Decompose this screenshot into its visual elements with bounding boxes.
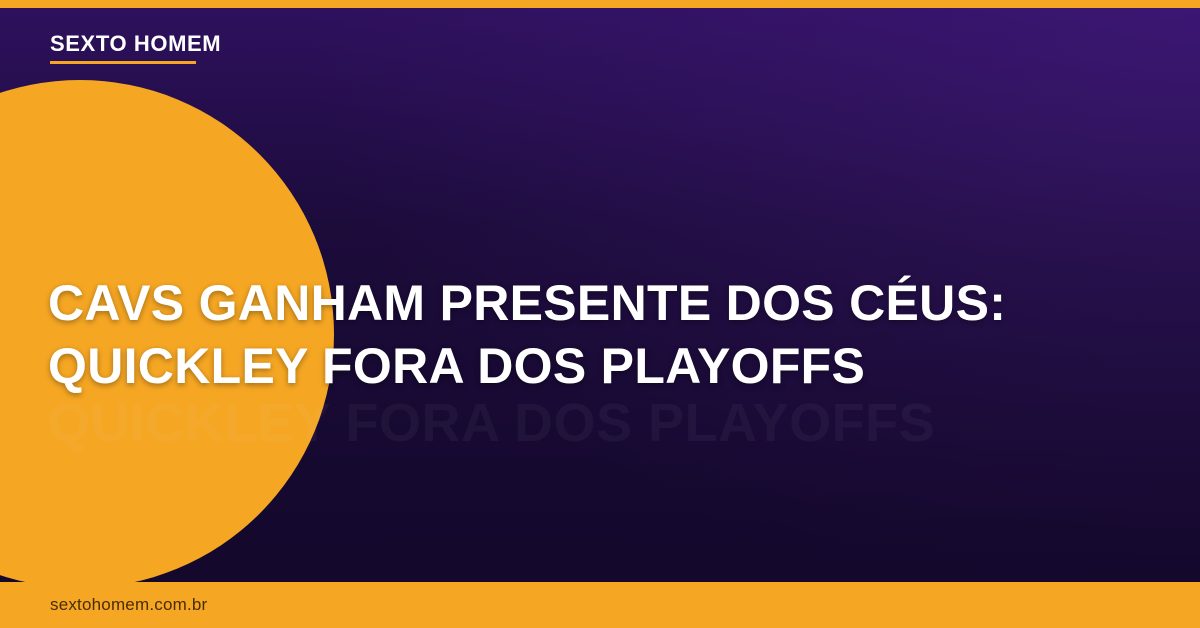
headline-line-2: QUICKLEY FORA DOS PLAYOFFS: [48, 335, 1138, 398]
ghost-headline-text: QUICKLEY FORA DOS PLAYOFFS: [48, 392, 1168, 456]
headline-line-1: CAVS GANHAM PRESENTE DOS CÉUS:: [48, 272, 1138, 335]
brand-logo[interactable]: SEXTO HOMEM: [50, 32, 221, 64]
page-title: CAVS GANHAM PRESENTE DOS CÉUS: QUICKLEY …: [48, 272, 1138, 398]
brand-underline: [50, 61, 196, 64]
footer-bar: sextohomem.com.br: [0, 582, 1200, 628]
site-url[interactable]: sextohomem.com.br: [50, 595, 207, 615]
brand-name: SEXTO HOMEM: [50, 32, 221, 56]
top-accent-bar: [0, 0, 1200, 8]
social-share-card: QUICKLEY FORA DOS PLAYOFFS SEXTO HOMEM C…: [0, 0, 1200, 628]
